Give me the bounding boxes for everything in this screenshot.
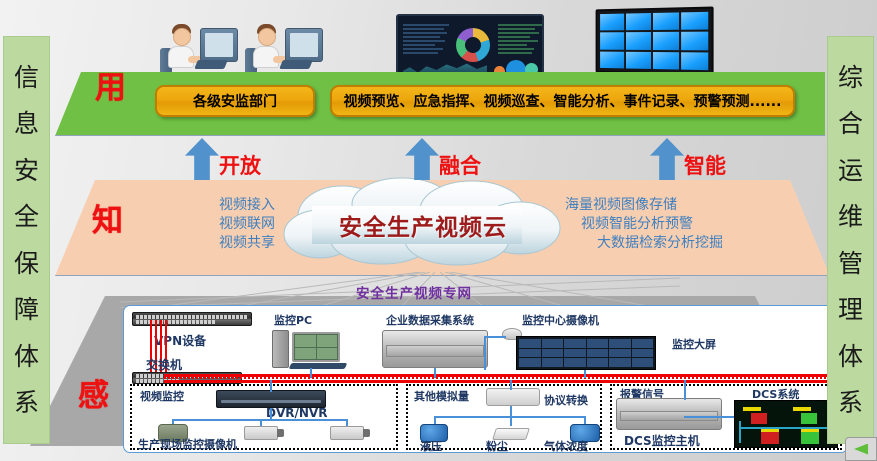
left-rail-char-3: 全 xyxy=(14,204,39,229)
cloud-title: 安全生产视频云 xyxy=(278,182,568,268)
left-rail-char-1: 息 xyxy=(14,111,39,136)
device-label-monitoring-pc: 监控PC xyxy=(274,312,312,328)
device-label-data-collection: 企业数据采集系统 xyxy=(386,312,474,328)
group-item-dvr-nvr: DVR/NVR xyxy=(266,406,327,420)
left-rail-char-5: 障 xyxy=(14,297,39,322)
group-item-hydraulic: 液压 xyxy=(420,438,442,453)
arrow-open: 开放 xyxy=(185,138,219,180)
left-rail-char-4: 保 xyxy=(14,251,39,276)
right-rail-char-6: 体 xyxy=(838,344,863,369)
dept-box[interactable]: 各级安监部门 xyxy=(155,85,315,117)
up-arrow-icon xyxy=(650,138,684,180)
cloud-right-item-0: 海量视频图像存储 xyxy=(565,196,780,215)
camera-link-line xyxy=(484,336,486,370)
arrow-label-fuse: 融合 xyxy=(439,150,481,180)
dashboard-table-right xyxy=(498,24,542,56)
cloud-left-item-0: 视频接入 xyxy=(130,196,275,215)
group-title-analog: 其他模拟量 xyxy=(414,388,469,404)
box-camera-icon xyxy=(330,426,364,440)
pc-keyboard-graphic xyxy=(289,363,348,369)
cloud-left-item-2: 视频共享 xyxy=(130,234,275,253)
cloud-right-items: 海量视频图像存储 视频智能分析预警 大数据检索分析挖掘 xyxy=(565,196,780,253)
layer-char-know: 知 xyxy=(92,195,123,240)
arrow-label-smart: 智能 xyxy=(684,150,726,180)
operator-illustration-1 xyxy=(160,12,236,74)
protocol-converter-graphic xyxy=(486,388,540,406)
cloud-right-item-1: 视频智能分析预警 xyxy=(565,215,780,234)
pc-link-line xyxy=(310,368,312,378)
cloud-left-item-1: 视频联网 xyxy=(130,215,275,234)
architecture-diagram: 用 知 感 xyxy=(0,0,877,461)
video-wall-display xyxy=(596,6,714,75)
group-item-site-cameras: 生产现场监控摄像机 xyxy=(138,436,237,452)
right-rail-char-4: 管 xyxy=(838,251,863,276)
camera-link-line xyxy=(484,336,506,338)
arrow-fuse: 融合 xyxy=(405,138,439,180)
pc-monitor-graphic xyxy=(292,332,340,362)
operator-illustration-2 xyxy=(245,12,321,74)
group-item-gas: 气体浓度 xyxy=(544,438,588,453)
left-rail-char-6: 体 xyxy=(14,344,39,369)
right-rail-operations-management: 综 合 运 维 管 理 体 系 xyxy=(827,36,874,444)
device-label-big-screen: 监控大屏 xyxy=(672,336,716,352)
cloud-left-items: 视频接入 视频联网 视频共享 xyxy=(130,196,275,253)
functions-box[interactable]: 视频预览、应急指挥、视频巡查、智能分析、事件记录、预警预测...... xyxy=(330,85,795,117)
pc-tower-graphic xyxy=(272,330,289,368)
group-item-protocol-convert: 协议转换 xyxy=(544,392,588,408)
dcs-system-screen xyxy=(734,400,838,448)
right-rail-char-0: 综 xyxy=(838,65,863,90)
right-rail-char-7: 系 xyxy=(838,390,863,415)
bigscreen-link-line xyxy=(584,370,586,378)
play-back-icon xyxy=(854,444,868,455)
group-item-dust: 粉尘 xyxy=(486,438,508,453)
dcs-host-graphic xyxy=(616,398,722,430)
cloud-label-wrap: 安全生产视频云 xyxy=(278,182,568,268)
device-label-switch: 交换机 xyxy=(146,356,182,373)
left-rail-char-0: 信 xyxy=(14,65,39,90)
group-item-dcs-host: DCS监控主机 xyxy=(624,432,700,449)
dashboard-donut-chart xyxy=(456,28,490,62)
right-rail-char-1: 合 xyxy=(838,111,863,136)
camera-bus-drop xyxy=(270,408,272,420)
layer-char-sense: 感 xyxy=(78,370,109,415)
analytics-dashboard-monitor xyxy=(396,14,544,80)
infrastructure-panel: VPN设备 交换机 监控PC 企业数据采集系统 xyxy=(123,305,848,453)
left-rail-information-security: 信 息 安 全 保 障 体 系 xyxy=(3,36,50,444)
cloud-right-item-2: 大数据检索分析挖掘 xyxy=(565,234,780,253)
monitoring-video-wall-graphic xyxy=(516,336,656,370)
box-camera-icon xyxy=(244,426,278,440)
dcs-uplink xyxy=(684,380,686,400)
left-rail-char-2: 安 xyxy=(14,158,39,183)
device-label-center-camera: 监控中心摄像机 xyxy=(522,312,599,328)
arrow-label-open: 开放 xyxy=(219,150,261,180)
layer-char-use: 用 xyxy=(95,62,126,107)
corner-badge[interactable] xyxy=(845,437,877,461)
group-title-video-monitoring: 视频监控 xyxy=(140,388,184,404)
dvr-uplink xyxy=(270,380,272,392)
right-rail-char-3: 维 xyxy=(838,204,863,229)
arrow-smart: 智能 xyxy=(650,138,684,180)
backbone-dotted-line xyxy=(164,377,848,379)
up-arrow-icon xyxy=(405,138,439,180)
sensor-drop xyxy=(510,416,512,426)
network-label: 安全生产视频专网 xyxy=(356,282,472,302)
left-rail-char-7: 系 xyxy=(14,390,39,415)
backbone-line xyxy=(164,380,848,383)
proto-uplink xyxy=(510,380,512,390)
server-link-line xyxy=(434,368,436,378)
dashboard-table-left xyxy=(403,24,449,56)
up-arrow-icon xyxy=(185,138,219,180)
right-rail-char-5: 理 xyxy=(838,297,863,322)
right-rail-char-2: 运 xyxy=(838,158,863,183)
data-collection-server-graphic xyxy=(382,330,488,368)
